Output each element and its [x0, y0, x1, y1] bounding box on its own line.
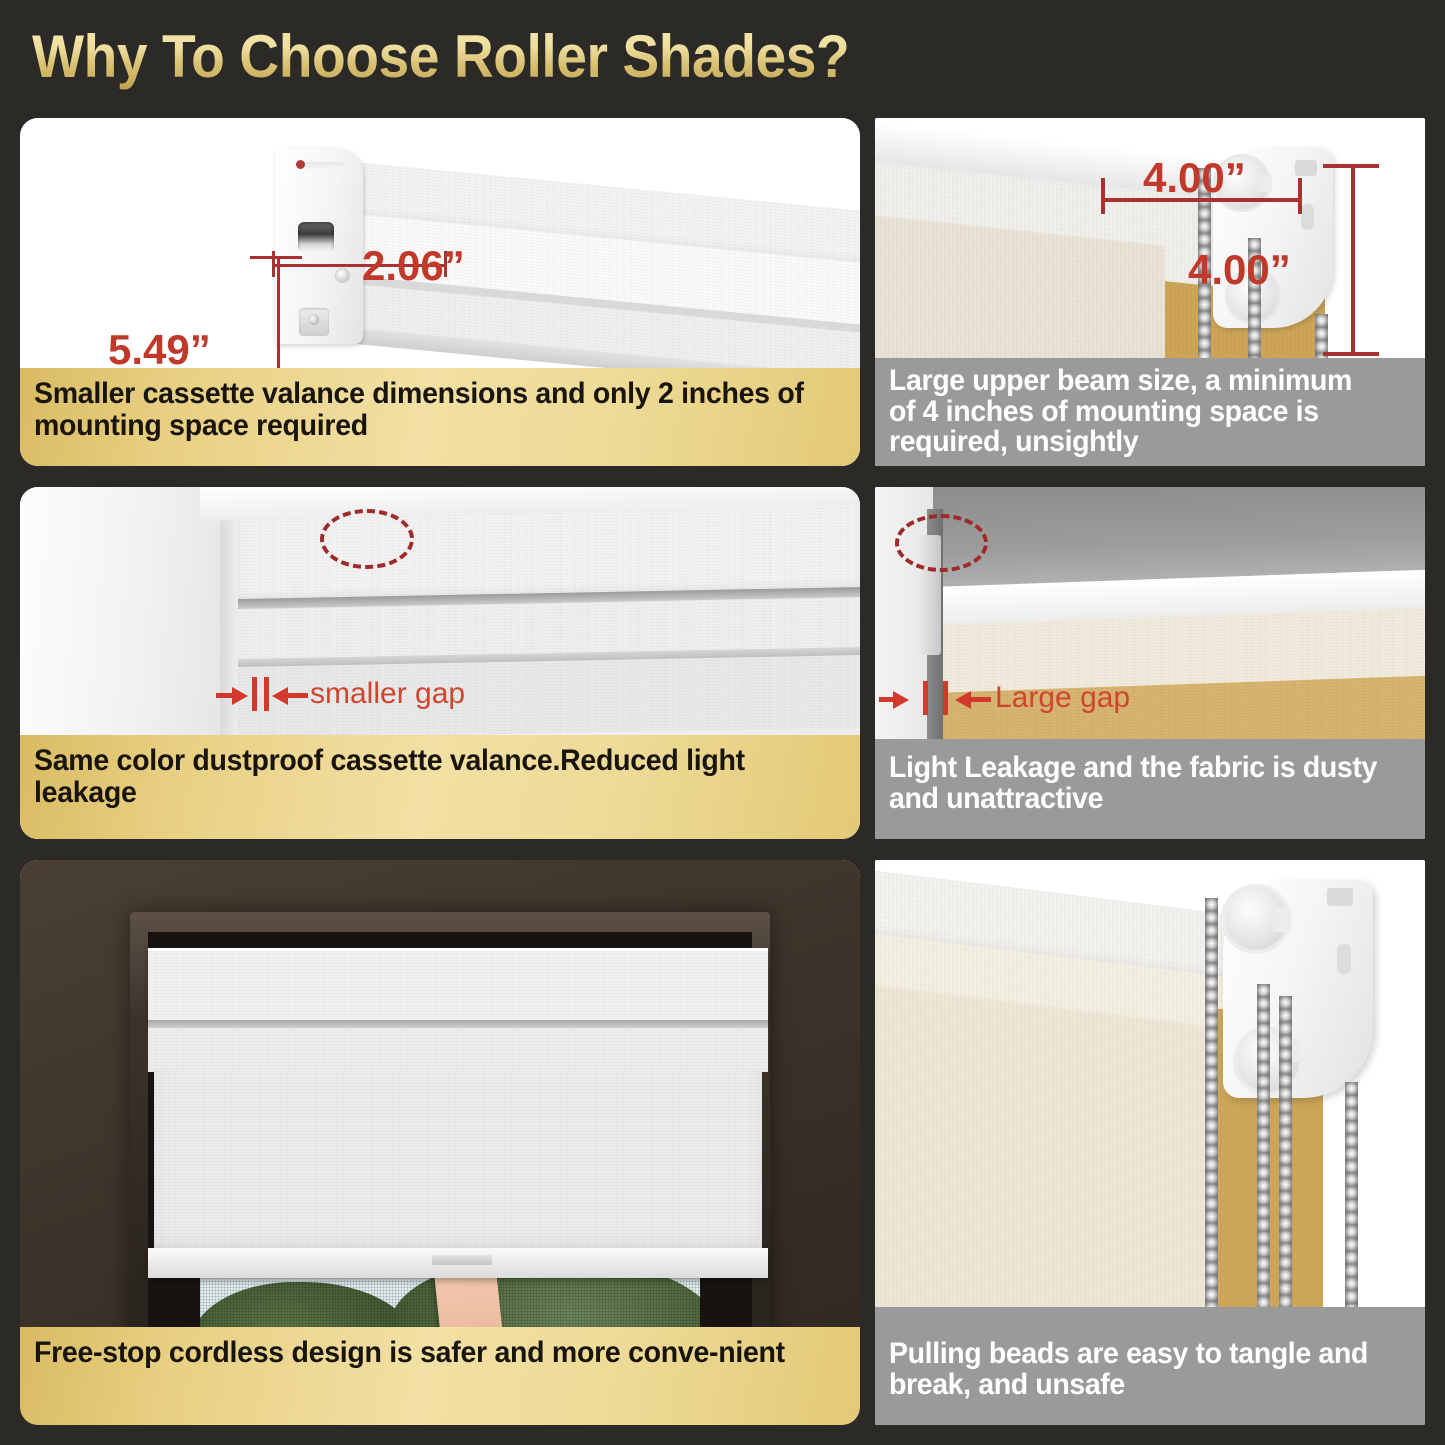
panel-cassette-dimensions: 2.06” 5.49” Smaller cassette valance dim… [20, 118, 860, 466]
smaller-gap-label: smaller gap [310, 677, 465, 711]
panel-light-leakage: Large gap Light Leakage and the fabric i… [875, 487, 1425, 839]
page-title: Why To Choose Roller Shades? [32, 22, 849, 91]
caption-text: Same color dustproof cassette valance.Re… [34, 745, 805, 810]
caption-light-leakage: Light Leakage and the fabric is dusty an… [875, 739, 1425, 839]
beam-height-label: 4.00” [1188, 246, 1291, 294]
width-dimension-tick-left [272, 251, 275, 277]
gap-highlight-ellipse-inline [320, 509, 414, 569]
gap-highlight-ellipse [895, 514, 988, 572]
shade-valance [148, 948, 768, 1027]
gap-tick-left [923, 681, 928, 715]
caption-large-upper-beam: Large upper beam size, a minimum of 4 in… [875, 358, 1425, 466]
bottom-rail-grip [432, 1255, 492, 1265]
caption-text: Large upper beam size, a minimum of 4 in… [889, 366, 1385, 458]
caption-cassette-dimensions: Smaller cassette valance dimensions and … [20, 368, 860, 466]
height-dimension-label: 5.49” [108, 326, 211, 374]
beam-height-tick-bottom [1323, 352, 1379, 356]
floor-strip [875, 1307, 1425, 1325]
beam-width-tick-left [1101, 178, 1105, 214]
infographic-canvas: Why To Choose Roller Shades? 2.06” [0, 0, 1445, 1445]
gap-tick-right [943, 681, 948, 715]
caption-dustproof-valance: Same color dustproof cassette valance.Re… [20, 735, 860, 839]
gap-arrow-right-stem [286, 693, 308, 698]
large-gap-label: Large gap [995, 681, 1130, 715]
caption-text: Free-stop cordless design is safer and m… [34, 1337, 805, 1369]
height-dimension-tick-top [250, 256, 302, 259]
beam-width-tick-right [1298, 178, 1302, 214]
beam-height-dimension-line [1351, 164, 1355, 356]
gap-arrow-left-stem [216, 693, 236, 698]
valance-lower [148, 1028, 768, 1072]
shade-fabric-body [154, 1070, 762, 1255]
beam-height-tick-top [1323, 164, 1379, 168]
panel-pulling-beads: Pulling beads are easy to tangle and bre… [875, 860, 1425, 1425]
caption-text: Pulling beads are easy to tangle and bre… [889, 1339, 1385, 1400]
gap-arrow-right-stem [969, 697, 991, 702]
panel-large-upper-beam: 4.00” 4.00” Large upper beam size, a min… [875, 118, 1425, 466]
caption-text: Light Leakage and the fabric is dusty an… [889, 753, 1385, 814]
panel-free-stop-cordless: Free-stop cordless design is safer and m… [20, 860, 860, 1425]
width-dimension-label: 2.06” [362, 242, 465, 290]
gap-arrow-left-stem [879, 697, 897, 702]
beam-width-label: 4.00” [1143, 154, 1246, 202]
caption-pulling-beads: Pulling beads are easy to tangle and bre… [875, 1325, 1425, 1425]
gap-tick-left [252, 677, 257, 711]
gap-tick-right [264, 677, 269, 711]
caption-text: Smaller cassette valance dimensions and … [34, 378, 805, 443]
caption-free-stop-cordless: Free-stop cordless design is safer and m… [20, 1327, 860, 1425]
panel-dustproof-valance: smaller gap Same color dustproof cassett… [20, 487, 860, 839]
